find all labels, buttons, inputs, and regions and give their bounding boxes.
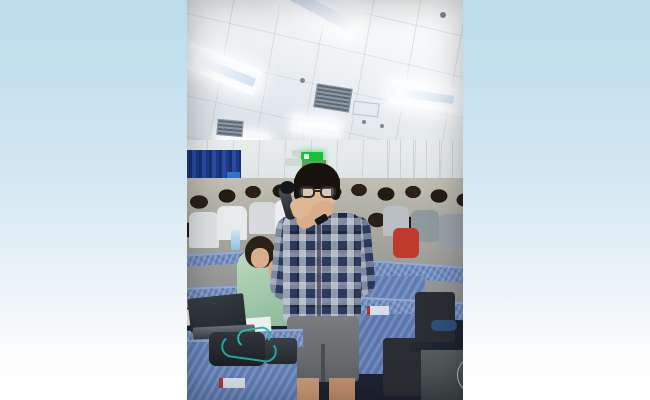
wall-speaker-icon	[285, 158, 302, 166]
watermark-section-en: NEWS	[609, 379, 641, 389]
ceiling-air-vent	[216, 119, 243, 137]
watermark-org-en: Tsinghua University	[515, 384, 578, 390]
audience-person	[249, 202, 277, 234]
ceiling-sensor-icon	[362, 120, 366, 124]
tsinghua-seal-inner	[463, 362, 489, 388]
news-photo	[187, 0, 463, 400]
ceiling-sensor-icon	[380, 124, 384, 128]
audience-person	[439, 214, 463, 248]
ceiling-access-hatch	[352, 100, 380, 117]
exit-sign-icon	[301, 152, 323, 161]
desk-number-label	[219, 378, 245, 388]
audience-person	[189, 212, 219, 248]
speaker-shirt-placket	[317, 215, 321, 319]
speaker-plaid-shirt	[283, 213, 361, 321]
ceiling-sensor-icon	[300, 78, 305, 83]
speaker-eyeglasses-bridge	[315, 190, 320, 192]
speaker-leg	[329, 378, 355, 400]
microphone-head	[280, 181, 295, 194]
watermark-section: 新闻 NEWS	[608, 361, 642, 389]
audience-person-face	[251, 248, 269, 268]
watermark-org-cn: 清华大学	[503, 361, 591, 380]
audience-person-red-shirt	[393, 228, 419, 258]
ceiling-sensor-icon	[440, 12, 446, 18]
watermark-section-cn: 新闻	[608, 361, 642, 377]
watermark-organization: 清华大学 Tsinghua University	[503, 361, 591, 390]
lecture-hall-step	[421, 350, 463, 400]
water-bottle	[231, 230, 240, 250]
watermark-divider	[599, 360, 600, 390]
desk-number-label	[367, 306, 389, 315]
speaker-eyeglasses-lens	[320, 186, 336, 198]
wall-sensor-icon	[292, 150, 301, 157]
student-shoe	[431, 320, 457, 331]
speaker-shorts-seam	[321, 344, 325, 382]
watermark: 清华大学 Tsinghua University 新闻 NEWS	[457, 356, 642, 394]
